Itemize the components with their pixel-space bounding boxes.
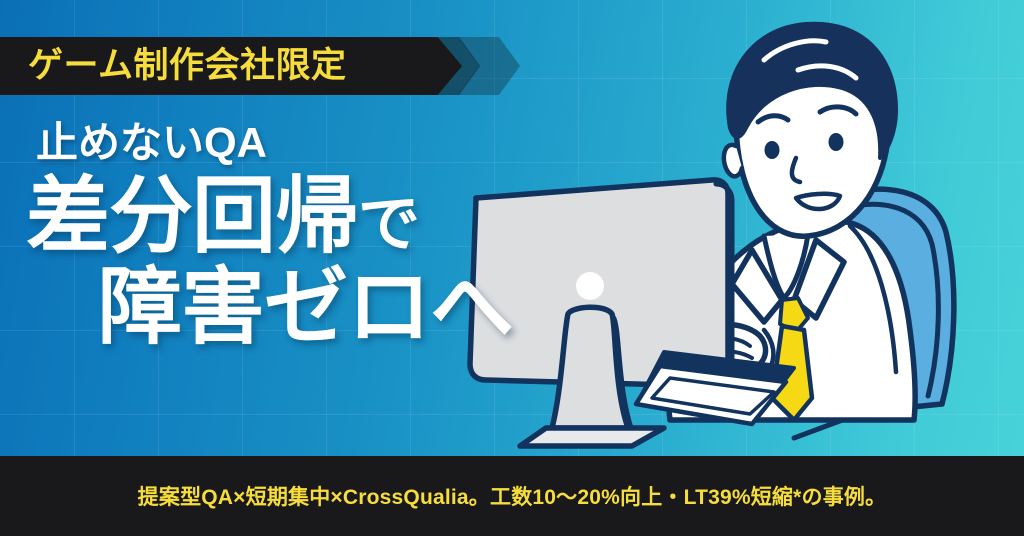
- headline-main-line1-kanji: 差分回帰: [26, 169, 358, 263]
- headline-main-line2: 障害ゼロへ: [98, 263, 560, 352]
- footer-tagline: 提案型QA×短期集中×CrossQualia。工数10〜20%向上・LT39%短…: [138, 481, 887, 511]
- headline-main-line1: 差分回帰で: [26, 172, 560, 261]
- badge-label: ゲーム制作会社限定: [28, 37, 346, 95]
- headline-main-line1-kana: で: [358, 190, 419, 259]
- headline-subline: 止めないQA: [36, 122, 560, 164]
- promo-banner: ゲーム制作会社限定 止めないQA 差分回帰で 障害ゼロへ 提案型QA×短期集中×…: [0, 0, 1024, 536]
- footer-bar: 提案型QA×短期集中×CrossQualia。工数10〜20%向上・LT39%短…: [0, 456, 1024, 536]
- headline-block: 止めないQA 差分回帰で 障害ゼロへ: [0, 122, 560, 352]
